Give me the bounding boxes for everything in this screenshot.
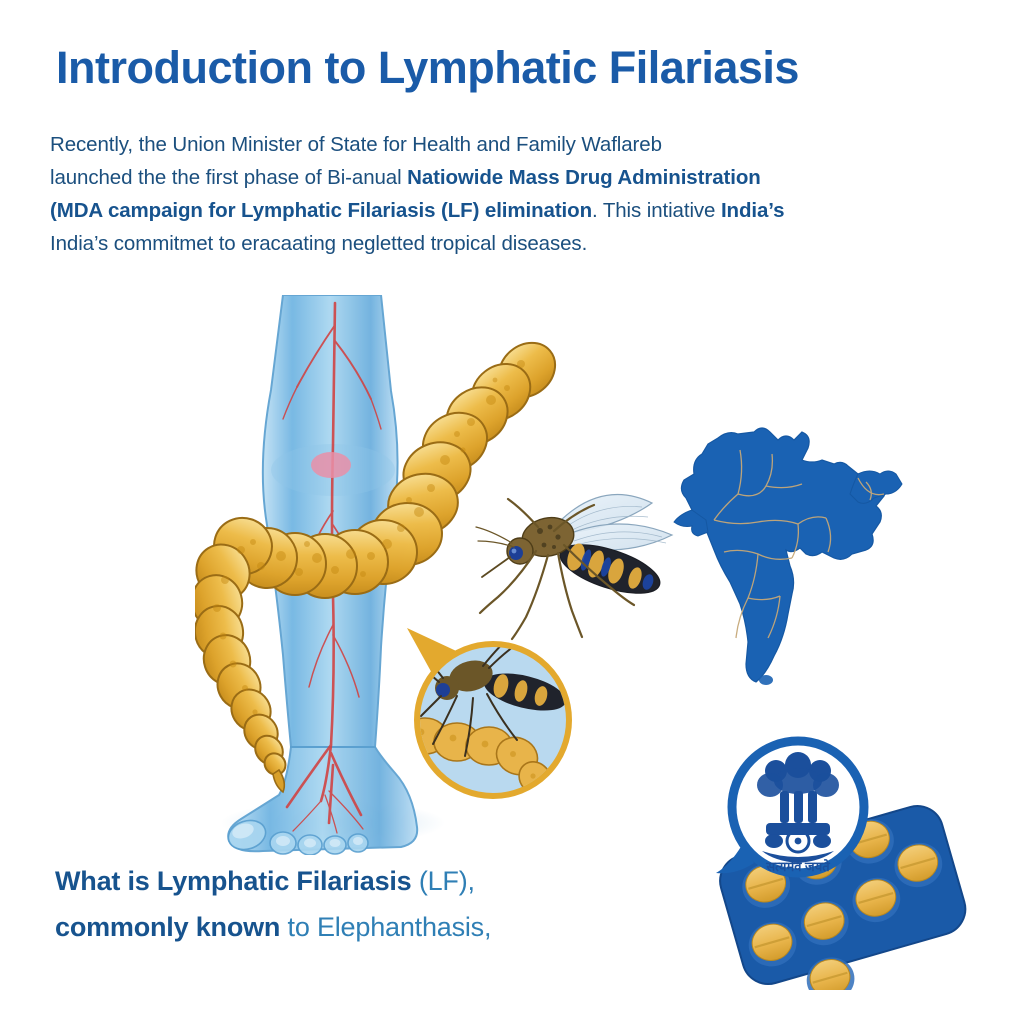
southern-island xyxy=(759,675,773,685)
intro-line-1: Recently, the Union Minister of State fo… xyxy=(50,128,950,161)
magnifier-lens xyxy=(417,644,569,796)
mosquito-illustration xyxy=(470,465,690,645)
intro-line-2: launched the the first phase of Bi-anual… xyxy=(50,161,950,194)
intro-line-2-normal: launched the the first phase of Bi-anual xyxy=(50,166,407,189)
emblem-motto: सत्यमेव जयते xyxy=(765,859,830,874)
mosquito-eye-highlight xyxy=(512,549,517,554)
india-map-body xyxy=(674,428,902,682)
caption-line-1-normal: (LF), xyxy=(412,866,475,896)
mosquito-proboscis xyxy=(482,557,510,577)
caption-line-1-bold: What is Lymphatic Filariasis xyxy=(55,866,412,896)
bottom-caption: What is Lymphatic Filariasis (LF), commo… xyxy=(55,858,675,950)
worm-tail-tip xyxy=(273,770,284,792)
intro-line-3-bold-tail: India’s xyxy=(721,199,784,222)
intro-line-3-normal: . This intiative xyxy=(592,199,721,222)
caption-line-1: What is Lymphatic Filariasis (LF), xyxy=(55,858,675,904)
intro-line-4-text: India’s commitmet to eracaating neglette… xyxy=(50,232,587,255)
magnifier-inset-illustration xyxy=(395,620,580,805)
mosquito-wings xyxy=(558,495,672,551)
emblem-and-blister-illustration: सत्यमेव जयते xyxy=(700,735,995,990)
intro-paragraph: Recently, the Union Minister of State fo… xyxy=(50,128,950,260)
intro-line-3: (MDA campaign for Lymphatic Filariasis (… xyxy=(50,194,950,227)
intro-line-3-bold: (MDA campaign for Lymphatic Filariasis (… xyxy=(50,199,592,222)
intro-line-4: India’s commitmet to eracaating neglette… xyxy=(50,227,950,260)
infographic-page: Introduction to Lymphatic Filariasis Rec… xyxy=(0,0,1024,1024)
page-title: Introduction to Lymphatic Filariasis xyxy=(56,44,976,91)
caption-line-2: commonly known to Elephanthasis, xyxy=(55,904,675,950)
india-map-illustration xyxy=(662,402,912,687)
intro-line-2-bold: Natiowide Mass Drug Administration xyxy=(407,166,761,189)
caption-line-2-bold: commonly known xyxy=(55,912,280,942)
mosquito-eye xyxy=(509,546,523,560)
caption-line-2-normal: to Elephanthasis, xyxy=(280,912,491,942)
intro-line-1-text: Recently, the Union Minister of State fo… xyxy=(50,133,662,156)
